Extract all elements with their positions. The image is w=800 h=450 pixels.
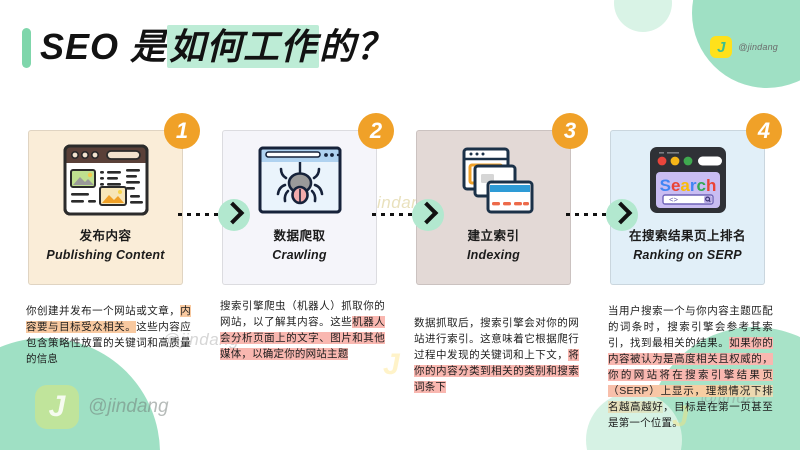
header: SEO 是如何工作的？ J @jindang — [0, 0, 800, 100]
page-title: SEO 是如何工作的？ — [40, 24, 393, 70]
page-title-part-2: 是 — [130, 26, 167, 67]
step-column-1: 1 — [28, 130, 183, 285]
watermark-j-icon-step2: J — [383, 348, 400, 382]
crawling-spider-icon — [257, 139, 343, 221]
page-title-highlight: 如何工作 — [167, 25, 319, 68]
step-description-4: 当用户搜索一个与你内容主题匹配的词条时，搜索引擎会参考其索引，找到最相关的结果。… — [608, 303, 773, 431]
step-description-3: 数据抓取后，搜索引擎会对你的网站进行索引。这意味着它根据爬行过程中发现的关键词和… — [414, 315, 579, 395]
jindang-logo-icon: J — [710, 36, 732, 58]
desc-seg: 数据抓取后，搜索引擎会对你的网站进行索引。这意味着它根据爬行过程中发现的关键词和… — [414, 317, 579, 361]
svg-text:<>: <> — [669, 197, 679, 205]
step-label-en-1: Publishing Content — [46, 248, 164, 262]
indexing-cards-icon — [452, 139, 536, 221]
infographic-canvas: SEO 是如何工作的？ J @jindang @jindang @jindang… — [0, 0, 800, 450]
step-number-badge-2: 2 — [358, 113, 394, 149]
step-label-en-2: Crawling — [272, 248, 326, 262]
desc-seg: 你创建并发布一个网站或文章， — [26, 305, 180, 317]
step-description-2: 搜索引擎爬虫（机器人）抓取你的网站，以了解其内容。这些机器人会分析页面上的文字、… — [220, 298, 385, 362]
flow-arrow-3 — [566, 200, 638, 230]
step-number-badge-3: 3 — [552, 113, 588, 149]
svg-text:Search: Search — [659, 176, 716, 195]
step-card-1[interactable]: 1 — [28, 130, 183, 285]
step-number-badge-1: 1 — [164, 113, 200, 149]
title-accent-bar — [22, 28, 31, 68]
page-title-part-1: SEO — [40, 26, 130, 67]
step-label-en-3: Indexing — [467, 248, 520, 262]
step-label-cn-4: 在搜索结果页上排名 — [629, 225, 746, 244]
flow-arrow-1 — [178, 200, 250, 230]
publishing-content-icon — [62, 139, 150, 221]
page-title-part-3: 的？ — [319, 26, 393, 67]
watermark-logo-handle: @jindang — [88, 396, 169, 418]
serp-search-icon: Search <> — [646, 139, 730, 221]
step-label-en-4: Ranking on SERP — [633, 248, 742, 262]
flow-arrow-2 — [372, 200, 444, 230]
watermark-logo-icon: J — [35, 385, 79, 429]
step-label-cn-1: 发布内容 — [79, 225, 131, 244]
step-label-cn-3: 建立索引 — [467, 225, 519, 244]
step-number-badge-4: 4 — [746, 113, 782, 149]
brand-handle: @jindang — [738, 42, 778, 52]
step-label-cn-2: 数据爬取 — [273, 225, 325, 244]
step-description-1: 你创建并发布一个网站或文章，内容要与目标受众相关。这些内容应包含策略性放置的关键… — [26, 303, 191, 367]
brand-badge: J @jindang — [710, 36, 778, 58]
